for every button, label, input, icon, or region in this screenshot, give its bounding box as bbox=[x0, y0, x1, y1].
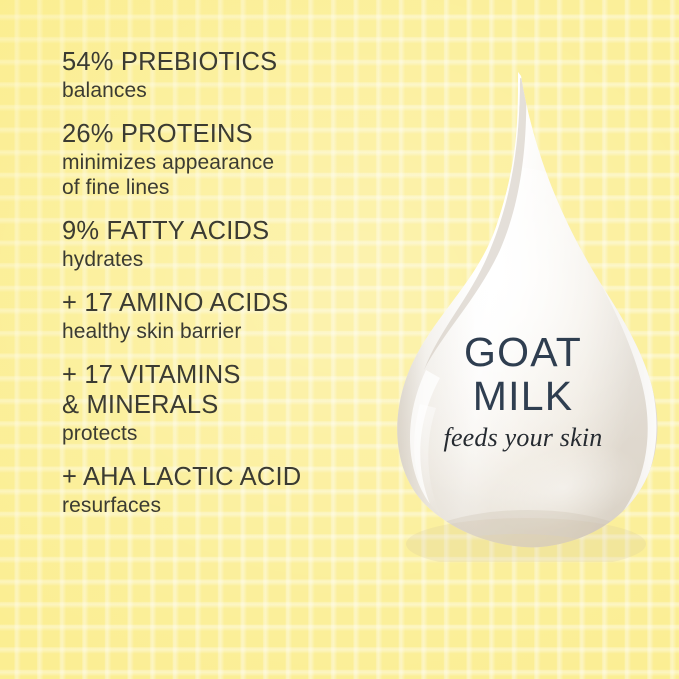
list-item: 26% PROTEINS minimizes appearance of fin… bbox=[62, 119, 382, 200]
ingredient-title: 54% PREBIOTICS bbox=[62, 47, 382, 77]
ingredient-title: 9% FATTY ACIDS bbox=[62, 216, 382, 246]
ingredient-benefit: healthy skin barrier bbox=[62, 319, 382, 344]
ingredient-benefit: protects bbox=[62, 421, 382, 446]
ingredient-title: + 17 AMINO ACIDS bbox=[62, 288, 382, 318]
list-item: + 17 VITAMINS & MINERALS protects bbox=[62, 360, 382, 446]
list-item: 9% FATTY ACIDS hydrates bbox=[62, 216, 382, 272]
ingredient-benefit: balances bbox=[62, 78, 382, 103]
list-item: + 17 AMINO ACIDS healthy skin barrier bbox=[62, 288, 382, 344]
milk-droplet-figure: GOAT MILK feeds your skin bbox=[368, 52, 678, 562]
milk-droplet-icon bbox=[368, 52, 678, 562]
ingredient-title: 26% PROTEINS bbox=[62, 119, 382, 149]
ingredient-title: + 17 VITAMINS & MINERALS bbox=[62, 360, 382, 420]
ingredient-title: + AHA LACTIC ACID bbox=[62, 462, 382, 492]
ingredient-list: 54% PREBIOTICS balances 26% PROTEINS min… bbox=[62, 47, 382, 534]
ingredient-benefit: minimizes appearance of fine lines bbox=[62, 150, 382, 200]
list-item: + AHA LACTIC ACID resurfaces bbox=[62, 462, 382, 518]
ingredient-benefit: resurfaces bbox=[62, 493, 382, 518]
ingredient-benefit: hydrates bbox=[62, 247, 382, 272]
list-item: 54% PREBIOTICS balances bbox=[62, 47, 382, 103]
goat-milk-infographic: 54% PREBIOTICS balances 26% PROTEINS min… bbox=[0, 0, 679, 679]
